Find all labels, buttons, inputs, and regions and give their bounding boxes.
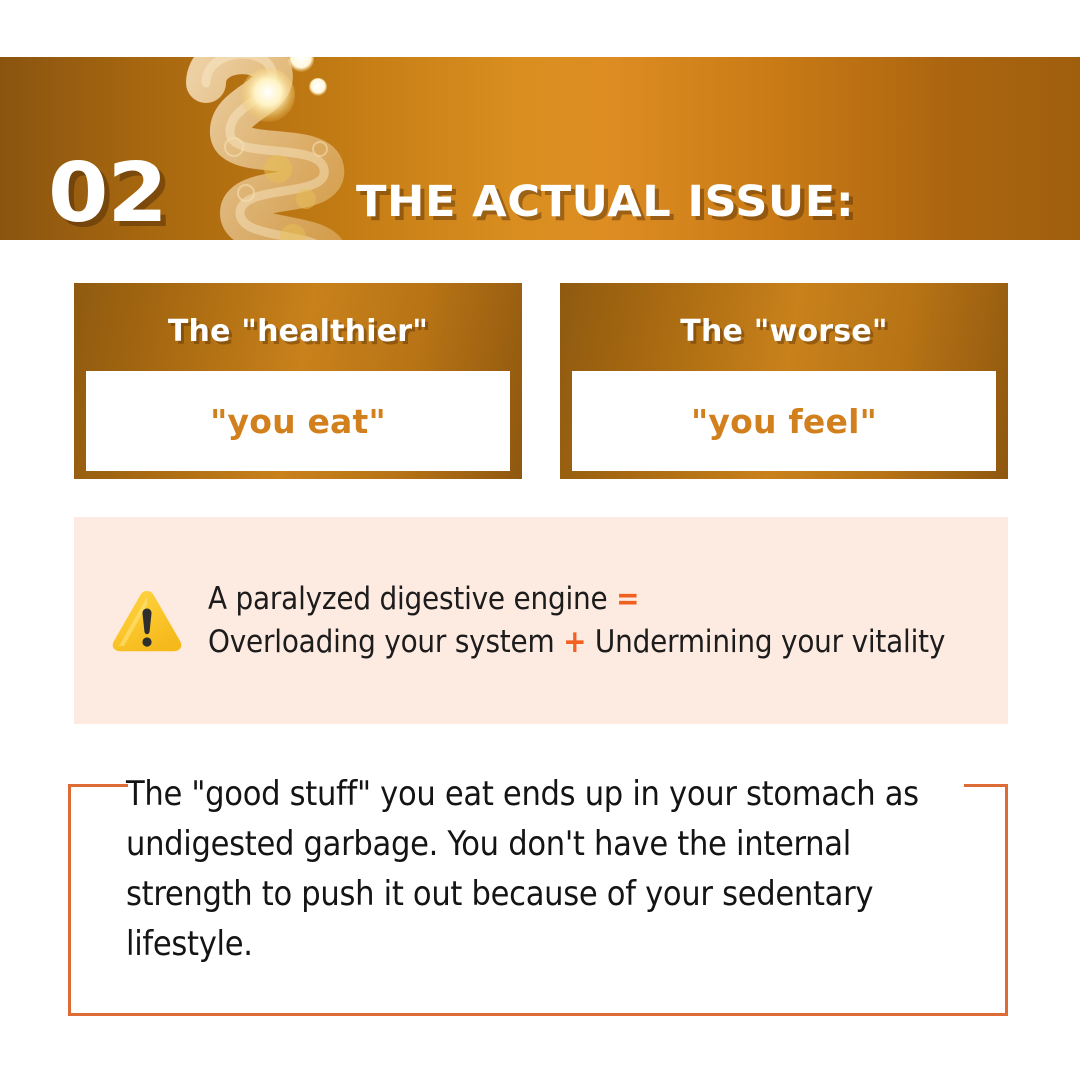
page-title: THE ACTUAL ISSUE: (356, 177, 854, 227)
callout-line2-text-b: Undermining your vitality (586, 624, 945, 660)
card-worse-heading: The "worse" (568, 291, 1000, 371)
quote-box-border-stub-left (68, 784, 128, 787)
card-healthier-panel: "you eat" (86, 371, 510, 471)
quote-box-border-stub-right (964, 784, 1008, 787)
equals-operator: = (616, 581, 639, 617)
comparison-cards: The "healthier" "you eat" The "worse" "y… (74, 283, 1008, 479)
card-worse: The "worse" "you feel" (560, 283, 1008, 479)
header-band: 02 THE ACTUAL ISSUE: (0, 57, 1080, 240)
warning-callout: A paralyzed digestive engine = Overloadi… (74, 517, 1008, 724)
infographic-page: 02 THE ACTUAL ISSUE: The "healthier" "yo… (0, 0, 1080, 1074)
callout-text: A paralyzed digestive engine = Overloadi… (208, 578, 975, 664)
quote-box-border-right (1005, 784, 1008, 1016)
plus-operator: + (563, 624, 586, 660)
card-worse-panel: "you feel" (572, 371, 996, 471)
quote-box-border-left (68, 784, 71, 1016)
quote-box: The "good stuff" you eat ends up in your… (68, 784, 1008, 1016)
section-number: 02 (48, 153, 167, 235)
card-healthier: The "healthier" "you eat" (74, 283, 522, 479)
warning-triangle-icon (108, 588, 186, 654)
quote-text: The "good stuff" you eat ends up in your… (126, 770, 956, 970)
callout-line2-text-a: Overloading your system (208, 624, 563, 660)
quote-box-border-bottom (68, 1013, 1008, 1016)
callout-line1-text: A paralyzed digestive engine (208, 581, 616, 617)
card-healthier-value: "you eat" (210, 402, 386, 441)
card-worse-value: "you feel" (691, 402, 877, 441)
card-healthier-heading: The "healthier" (82, 291, 514, 371)
